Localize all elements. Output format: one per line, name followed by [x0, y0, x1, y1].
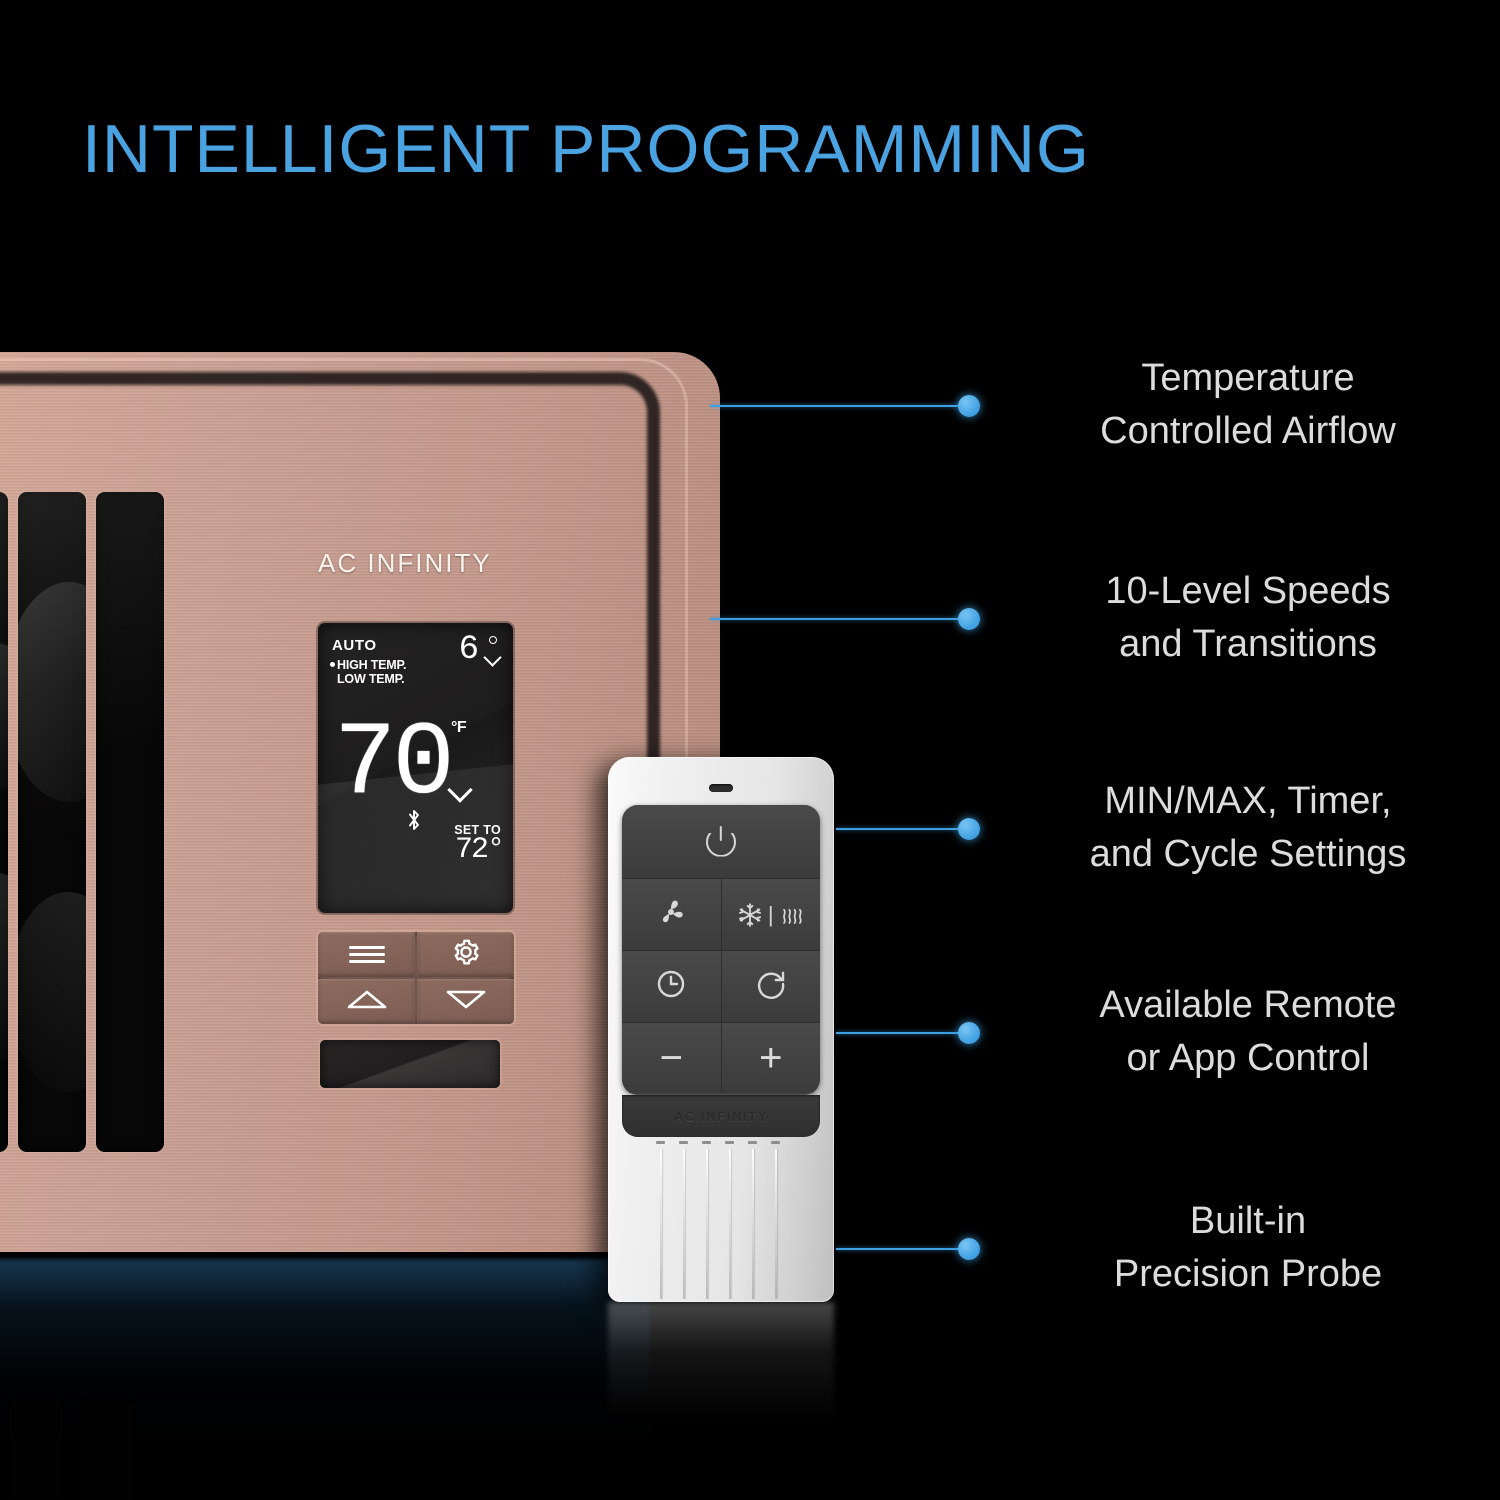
page-title: INTELLIGENT PROGRAMMING [82, 110, 1090, 188]
ir-emitter-icon [709, 784, 733, 792]
grille-slot-3 [96, 492, 164, 1152]
callout-settings-text: MIN/MAX, Timer, and Cycle Settings [1038, 775, 1458, 881]
remote-button-pad[interactable]: | [622, 805, 820, 1095]
power-button[interactable] [622, 805, 820, 879]
callout-remote-text: Available Remote or App Control [1038, 979, 1458, 1085]
remote-grip-fins [660, 1149, 782, 1299]
cycle-icon [755, 968, 787, 1005]
callout-probe-text: Built-in Precision Probe [1038, 1195, 1458, 1301]
grille-slot-2 [18, 492, 86, 1152]
fan-icon [654, 895, 688, 934]
callout-remote-line2: or App Control [1038, 1032, 1458, 1085]
callout-temperature-line1: Temperature [1038, 352, 1458, 405]
remote-brand-label: AC INFINITY [674, 1109, 768, 1124]
callout-settings-line2: and Cycle Settings [1038, 828, 1458, 881]
lcd-display: AUTO HIGH TEMP. LOW TEMP. 6 70 °F SET TO… [318, 623, 513, 913]
lcd-temp-unit: °F [451, 719, 466, 737]
cycle-button[interactable] [722, 951, 821, 1023]
lcd-speed-level: 6 [459, 633, 479, 667]
down-button[interactable] [417, 979, 514, 1024]
gear-icon [451, 937, 481, 972]
callout-speeds-text: 10-Level Speeds and Transitions [1038, 565, 1458, 671]
lcd-set-to-value: 72° [455, 835, 503, 865]
increase-button[interactable]: + [722, 1023, 821, 1093]
callout-probe-line1: Built-in [1038, 1195, 1458, 1248]
callout-speeds-line1: 10-Level Speeds [1038, 565, 1458, 618]
bluetooth-icon [406, 809, 422, 835]
decrease-button[interactable]: − [622, 1023, 722, 1093]
product-feature-image: INTELLIGENT PROGRAMMING AC INFINITY AUTO… [0, 0, 1500, 1500]
hamburger-menu-icon [349, 946, 385, 964]
speed-circle-icon [489, 636, 497, 644]
settings-button[interactable] [417, 932, 514, 977]
power-icon [706, 827, 736, 857]
snowflake-heat-icon: | [737, 902, 805, 928]
unit-brand-label: AC INFINITY [318, 548, 492, 579]
triangle-down-icon [444, 988, 488, 1015]
callout-remote-line1: Available Remote [1038, 979, 1458, 1032]
callout-temperature-text: Temperature Controlled Airflow [1038, 352, 1458, 458]
minus-icon: − [660, 1038, 683, 1078]
temp-mode-button[interactable]: | [722, 879, 821, 951]
callout-temperature-line2: Controlled Airflow [1038, 405, 1458, 458]
grille-reflection [0, 1400, 390, 1500]
lcd-current-temp: 70 [334, 713, 451, 817]
remote-control[interactable]: | [608, 757, 834, 1302]
lcd-mode-auto: AUTO [332, 637, 377, 654]
lcd-temp-mode-group: HIGH TEMP. LOW TEMP. [330, 659, 406, 686]
callout-probe-line2: Precision Probe [1038, 1248, 1458, 1301]
fan-mode-button[interactable] [622, 879, 722, 951]
remote-brand-plate: AC INFINITY [622, 1095, 820, 1137]
timer-button[interactable] [622, 951, 722, 1023]
lcd-high-temp-label: HIGH TEMP. [337, 658, 406, 672]
unit-sensor-bar [320, 1040, 500, 1088]
clock-icon [655, 968, 687, 1005]
triangle-up-icon [345, 988, 389, 1015]
grille-slot-1 [0, 492, 8, 1152]
active-mode-dot [330, 662, 335, 667]
callout-settings-line1: MIN/MAX, Timer, [1038, 775, 1458, 828]
chevron-down-big-icon [451, 781, 469, 804]
menu-button[interactable] [318, 932, 415, 977]
lcd-low-temp-label: LOW TEMP. [337, 672, 404, 686]
up-button[interactable] [318, 979, 415, 1024]
plus-icon: + [759, 1038, 782, 1078]
remote-reflection [608, 1302, 834, 1422]
callout-speeds-line2: and Transitions [1038, 618, 1458, 671]
chevron-down-icon [486, 651, 499, 669]
unit-keypad[interactable] [318, 932, 514, 1024]
